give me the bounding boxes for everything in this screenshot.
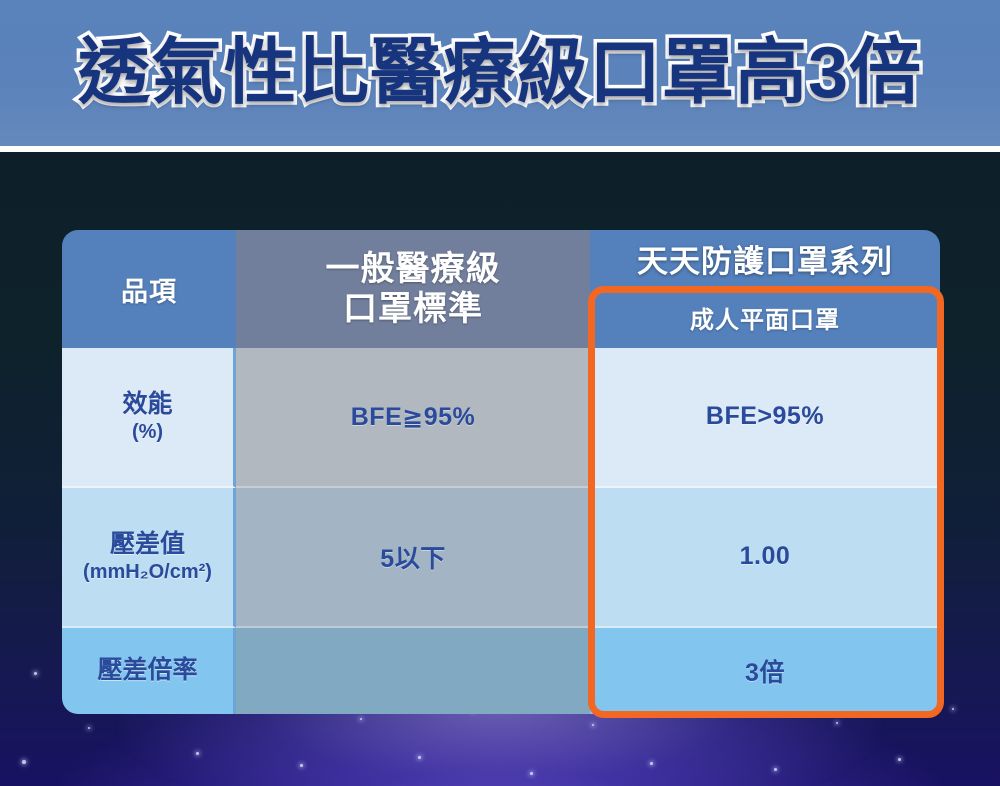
table-row: 壓差值 (mmH₂O/cm²) 5以下 1.00 [62,488,940,628]
header-standard-line2: 口罩標準 [343,290,483,328]
comparison-table: 品項 一般醫療級 口罩標準 天天防護口罩系列 成人平面口罩 效能 (%) [62,230,940,714]
row-label-unit: (mmH₂O/cm²) [62,560,233,585]
header-cell-standard: 一般醫療級 口罩標準 [236,230,590,348]
cell-standard-pressure-ratio [236,628,590,714]
cell-standard-pressure-drop: 5以下 [236,488,590,628]
cell-brand-pressure-ratio: 3倍 [590,628,940,714]
table-header-row: 品項 一般醫療級 口罩標準 天天防護口罩系列 成人平面口罩 [62,230,940,348]
row-label-pressure-ratio: 壓差倍率 [62,628,236,714]
header-standard-line1: 一般醫療級 [326,250,501,288]
header-brand-title: 天天防護口罩系列 [590,230,940,286]
row-label-text: 壓差倍率 [97,656,197,684]
cell-standard-efficiency: BFE≧95% [236,348,590,488]
cell-brand-efficiency: BFE>95% [590,348,940,488]
slide-root: 透氣性比醫療級口罩高3倍 [0,0,1000,786]
row-label-pressure-drop: 壓差值 (mmH₂O/cm²) [62,488,236,628]
row-label-efficiency: 效能 (%) [62,348,236,488]
cell-brand-pressure-drop: 1.00 [590,488,940,628]
comparison-table-wrapper: 品項 一般醫療級 口罩標準 天天防護口罩系列 成人平面口罩 效能 (%) [62,230,940,714]
table-row: 效能 (%) BFE≧95% BFE>95% [62,348,940,488]
header-cell-brand: 天天防護口罩系列 成人平面口罩 [590,230,940,348]
row-label-text: 效能 [122,390,172,418]
header-brand-subtitle: 成人平面口罩 [590,286,940,348]
row-label-text: 壓差值 [110,530,185,558]
header-banner: 透氣性比醫療級口罩高3倍 [0,0,1000,146]
banner-title: 透氣性比醫療級口罩高3倍 [78,37,922,109]
row-label-unit: (%) [62,420,233,445]
table-row: 壓差倍率 3倍 [62,628,940,714]
header-cell-item: 品項 [62,230,236,348]
